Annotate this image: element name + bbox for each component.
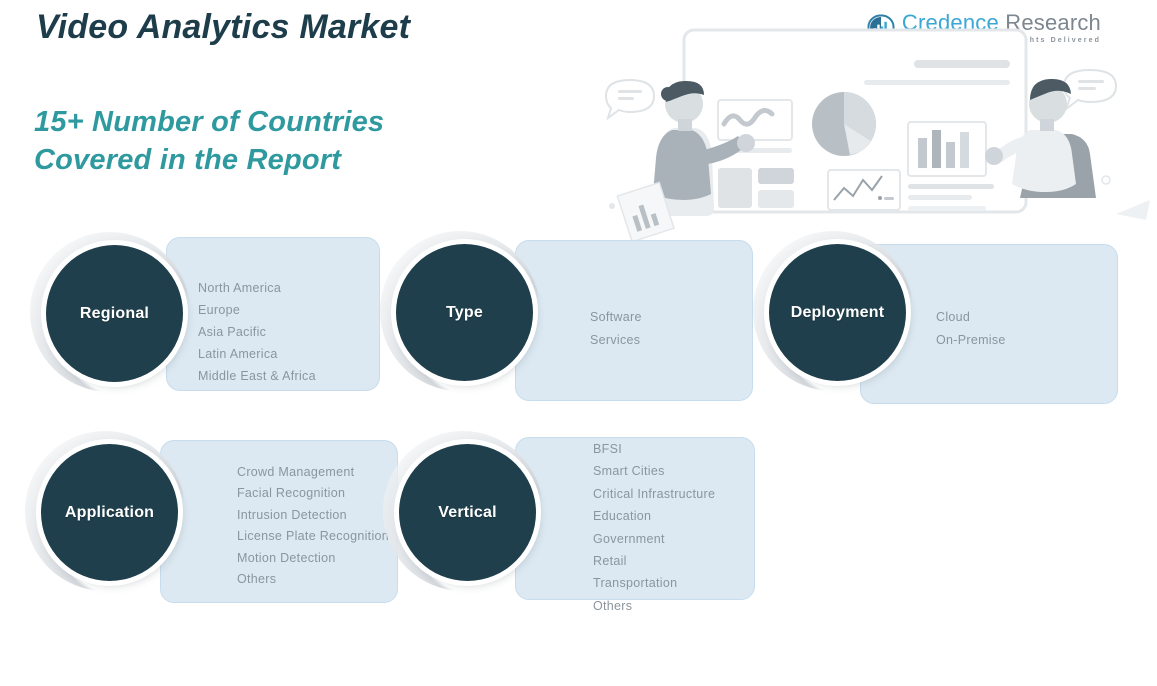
segment-label-vertical: Vertical: [438, 504, 497, 522]
list-item: Crowd Management: [237, 462, 389, 483]
segment-list-deployment: Cloud On-Premise: [936, 306, 1006, 351]
segment-label-application: Application: [65, 504, 154, 522]
segment-circle-regional[interactable]: Regional: [30, 232, 200, 402]
list-item: Intrusion Detection: [237, 505, 389, 526]
segment-circle-body-application[interactable]: Application: [41, 444, 178, 581]
segment-label-regional: Regional: [80, 305, 149, 323]
list-item: Transportation: [593, 572, 715, 594]
page-title: Video Analytics Market: [36, 8, 410, 47]
list-item: North America: [198, 277, 316, 299]
segment-circle-body-type[interactable]: Type: [396, 244, 533, 381]
list-item: Cloud: [936, 306, 1006, 329]
list-item: Facial Recognition: [237, 483, 389, 504]
list-item: Europe: [198, 299, 316, 321]
list-item: Middle East & Africa: [198, 365, 316, 387]
segment-circle-type[interactable]: Type: [380, 231, 550, 401]
segment-circle-deployment[interactable]: Deployment: [753, 231, 923, 401]
segment-label-deployment: Deployment: [791, 304, 885, 322]
segment-circle-application[interactable]: Application: [25, 431, 195, 601]
list-item: Others: [237, 569, 389, 590]
list-item: Latin America: [198, 343, 316, 365]
list-item: Software: [590, 306, 642, 329]
list-item: Retail: [593, 550, 715, 572]
segment-list-type: Software Services: [590, 306, 642, 351]
list-item: On-Premise: [936, 329, 1006, 352]
list-item: Smart Cities: [593, 460, 715, 482]
list-item: Others: [593, 595, 715, 617]
page-subtitle: 15+ Number of Countries Covered in the R…: [34, 103, 384, 179]
segment-list-regional: North America Europe Asia Pacific Latin …: [198, 277, 316, 387]
page-subtitle-line-2: Covered in the Report: [34, 141, 384, 179]
list-item: Services: [590, 329, 642, 352]
list-item: Critical Infrastructure: [593, 483, 715, 505]
segment-circle-body-deployment[interactable]: Deployment: [769, 244, 906, 381]
segment-list-application: Crowd Management Facial Recognition Intr…: [237, 462, 389, 590]
segment-list-vertical: BFSI Smart Cities Critical Infrastructur…: [593, 438, 715, 617]
list-item: Asia Pacific: [198, 321, 316, 343]
page-subtitle-line-1: 15+ Number of Countries: [34, 103, 384, 141]
segment-circle-body-vertical[interactable]: Vertical: [399, 444, 536, 581]
list-item: Government: [593, 528, 715, 550]
segment-circle-body-regional[interactable]: Regional: [46, 245, 183, 382]
business-analytics-presentation-illustration: [596, 18, 1156, 256]
list-item: License Plate Recognition: [237, 526, 389, 547]
list-item: Motion Detection: [237, 548, 389, 569]
list-item: Education: [593, 505, 715, 527]
list-item: BFSI: [593, 438, 715, 460]
segment-circle-vertical[interactable]: Vertical: [383, 431, 553, 601]
segment-label-type: Type: [446, 304, 483, 322]
